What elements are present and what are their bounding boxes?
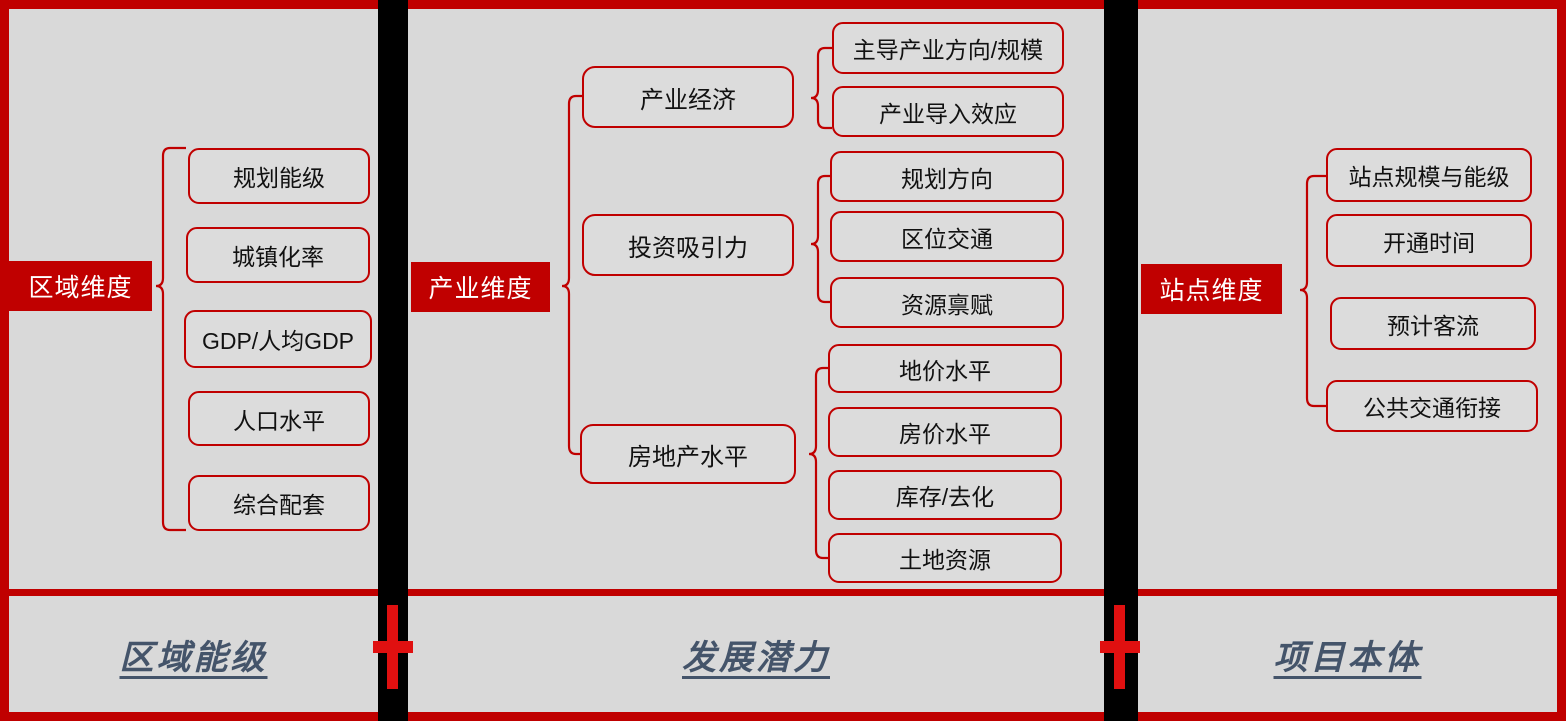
brace-realestate (809, 368, 830, 558)
brace-industry-main (562, 96, 582, 454)
summary-label-station: 项目本体 (1274, 630, 1422, 679)
brace-investment (811, 176, 832, 302)
node-industry-b2-leaf-3[interactable]: 资源禀赋 (830, 277, 1064, 328)
node-label: 地价水平 (899, 352, 991, 386)
node-industry-b3-leaf-1[interactable]: 地价水平 (828, 344, 1062, 393)
node-label: 资源禀赋 (901, 286, 993, 320)
frame-border-right (1557, 0, 1566, 721)
summary-label-industry: 发展潜力 (682, 630, 830, 679)
node-region-leaf-1[interactable]: 规划能级 (188, 148, 370, 204)
node-label: 开通时间 (1383, 224, 1475, 258)
node-region-leaf-2[interactable]: 城镇化率 (186, 227, 370, 283)
node-label: 房价水平 (899, 415, 991, 449)
node-industry-branch-1[interactable]: 产业经济 (582, 66, 794, 128)
diagram-canvas: 区域维度 规划能级 城镇化率 GDP/人均GDP 人口水平 综合配套 产业维度 … (0, 0, 1566, 721)
summary-label-region: 区域能级 (120, 630, 268, 679)
dimension-label-station[interactable]: 站点维度 (1141, 264, 1282, 314)
dimension-label-station-text: 站点维度 (1159, 271, 1263, 307)
node-label: 站点规模与能级 (1349, 158, 1510, 192)
horizontal-divider (9, 589, 1557, 596)
plus-horizontal-bar (1100, 641, 1140, 653)
node-label: GDP/人均GDP (202, 322, 354, 356)
node-industry-b2-leaf-1[interactable]: 规划方向 (830, 151, 1064, 202)
plus-operator-1 (373, 605, 413, 689)
node-industry-b3-leaf-3[interactable]: 库存/去化 (828, 470, 1062, 520)
brace-industry-economy (811, 48, 832, 128)
node-label: 投资吸引力 (628, 228, 748, 263)
node-label: 产业经济 (640, 80, 736, 115)
node-label: 人口水平 (233, 402, 325, 436)
node-industry-b1-leaf-1[interactable]: 主导产业方向/规模 (832, 22, 1064, 74)
summary-industry[interactable]: 发展潜力 (408, 596, 1104, 712)
plus-horizontal-bar (373, 641, 413, 653)
node-industry-branch-2[interactable]: 投资吸引力 (582, 214, 794, 276)
summary-station[interactable]: 项目本体 (1138, 596, 1557, 712)
node-label: 房地产水平 (628, 437, 748, 472)
dimension-label-industry[interactable]: 产业维度 (411, 262, 550, 312)
node-industry-b3-leaf-4[interactable]: 土地资源 (828, 533, 1062, 583)
node-industry-b1-leaf-2[interactable]: 产业导入效应 (832, 86, 1064, 137)
dimension-label-region-text: 区域维度 (28, 268, 132, 304)
node-label: 主导产业方向/规模 (853, 31, 1043, 65)
frame-border-bottom (0, 712, 1566, 721)
frame-border-top (0, 0, 1566, 9)
plus-operator-2 (1100, 605, 1140, 689)
node-region-leaf-5[interactable]: 综合配套 (188, 475, 370, 531)
node-station-leaf-3[interactable]: 预计客流 (1330, 297, 1536, 350)
dimension-label-industry-text: 产业维度 (428, 269, 532, 305)
node-industry-branch-3[interactable]: 房地产水平 (580, 424, 796, 484)
node-label: 规划方向 (901, 160, 993, 194)
frame-border-left (0, 0, 9, 721)
node-region-leaf-4[interactable]: 人口水平 (188, 391, 370, 446)
node-label: 库存/去化 (896, 478, 994, 512)
node-industry-b3-leaf-2[interactable]: 房价水平 (828, 407, 1062, 457)
node-region-leaf-3[interactable]: GDP/人均GDP (184, 310, 372, 368)
node-label: 规划能级 (233, 159, 325, 193)
node-label: 公共交通衔接 (1363, 389, 1501, 423)
node-label: 城镇化率 (232, 238, 324, 272)
node-label: 土地资源 (899, 541, 991, 575)
node-label: 区位交通 (901, 220, 993, 254)
node-label: 产业导入效应 (879, 95, 1017, 129)
brace-station (1300, 176, 1328, 406)
dimension-label-region[interactable]: 区域维度 (9, 261, 152, 311)
node-station-leaf-1[interactable]: 站点规模与能级 (1326, 148, 1532, 202)
node-label: 综合配套 (233, 486, 325, 520)
node-station-leaf-2[interactable]: 开通时间 (1326, 214, 1532, 267)
node-station-leaf-4[interactable]: 公共交通衔接 (1326, 380, 1538, 432)
summary-region[interactable]: 区域能级 (9, 596, 378, 712)
node-industry-b2-leaf-2[interactable]: 区位交通 (830, 211, 1064, 262)
node-label: 预计客流 (1387, 307, 1479, 341)
brace-region (156, 148, 186, 530)
